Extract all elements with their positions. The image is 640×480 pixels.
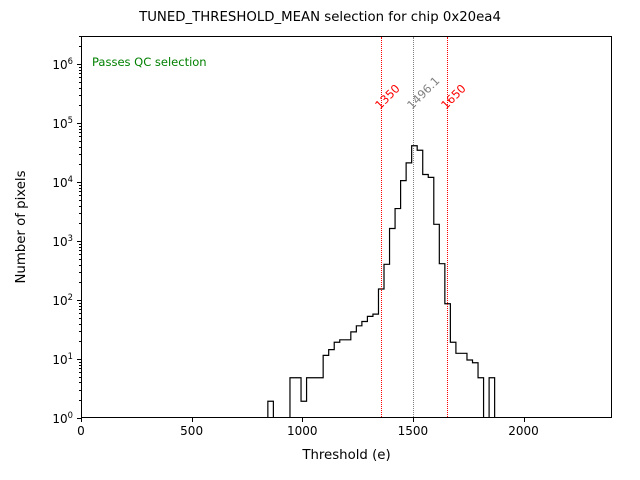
x-tick (192, 418, 193, 422)
figure-canvas: TUNED_THRESHOLD_MEAN selection for chip … (0, 0, 640, 480)
x-tick (413, 418, 414, 422)
plot-area (81, 36, 612, 418)
page-title: TUNED_THRESHOLD_MEAN selection for chip … (0, 10, 640, 25)
vline-1350 (381, 37, 382, 418)
x-tick-label: 1500 (383, 424, 443, 438)
x-tick (524, 418, 525, 422)
x-tick (302, 418, 303, 422)
y-tick-label: 104 (27, 174, 73, 190)
y-tick-label: 102 (27, 292, 73, 308)
x-axis-label: Threshold (e) (81, 448, 612, 463)
x-tick-label: 0 (51, 424, 111, 438)
x-tick-label: 1000 (272, 424, 332, 438)
x-tick-label: 2000 (494, 424, 554, 438)
y-tick-label: 105 (27, 115, 73, 131)
x-tick-label: 500 (162, 424, 222, 438)
vline-1650 (447, 37, 448, 418)
vline-1496-1 (413, 37, 414, 418)
y-tick-label: 101 (27, 351, 73, 367)
y-tick-label: 103 (27, 233, 73, 249)
histogram-curve (82, 37, 612, 418)
y-tick (77, 418, 81, 419)
y-tick-label: 106 (27, 56, 73, 72)
x-tick (81, 418, 82, 422)
